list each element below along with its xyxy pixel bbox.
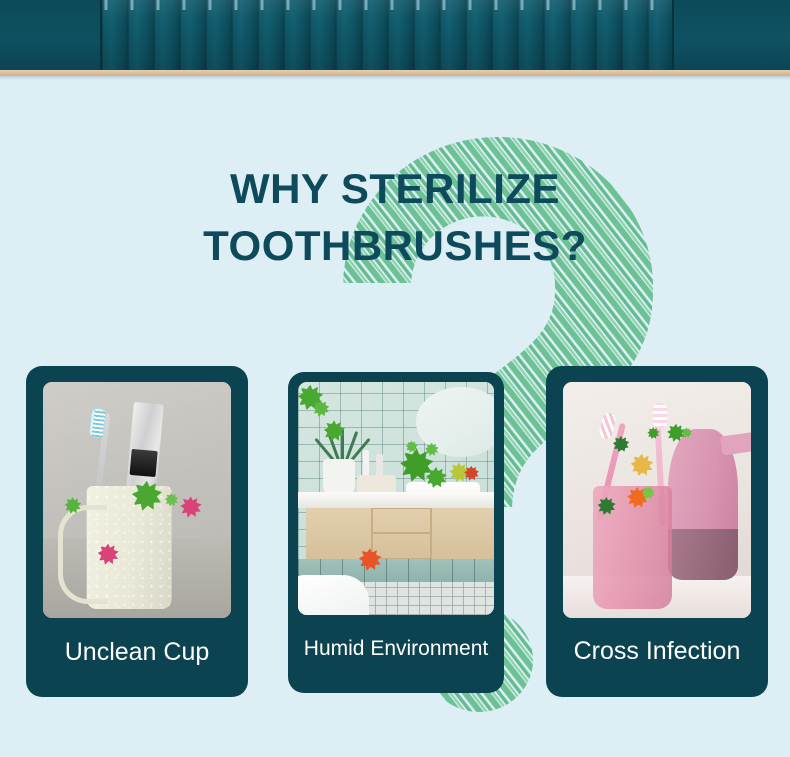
germ-icon — [429, 471, 443, 485]
germ-icon — [453, 466, 466, 479]
card-label-humid-environment: Humid Environment — [288, 637, 504, 661]
photo-unclean-cup — [43, 382, 231, 618]
germ-icon — [408, 443, 416, 451]
germ-icon — [670, 427, 682, 439]
germ-icon — [184, 500, 198, 514]
title-line-2: TOOTHBRUSHES? — [0, 217, 790, 274]
card-label-cross-infection: Cross Infection — [546, 637, 768, 666]
photo-cross-infection — [563, 382, 751, 618]
title-line-1: WHY STERILIZE — [0, 160, 790, 217]
germ-icon — [467, 468, 477, 478]
photo-humid-environment — [298, 382, 494, 615]
cabinet-header — [0, 0, 790, 70]
germ-icon — [137, 486, 157, 506]
cabinet-right-panel — [673, 0, 790, 70]
cabinet-slats — [101, 0, 673, 70]
card-label-unclean-cup: Unclean Cup — [26, 638, 248, 667]
germ-icon — [634, 458, 649, 473]
germ-icon — [601, 500, 613, 512]
cabinet-seam-right — [672, 0, 674, 70]
germ-icon — [363, 552, 378, 567]
germ-icon — [644, 488, 653, 497]
cabinet-trim-shadow — [0, 76, 790, 80]
germ-icon — [406, 454, 428, 476]
germ-icon — [316, 403, 327, 414]
germ-icon — [616, 439, 627, 450]
page-title: WHY STERILIZE TOOTHBRUSHES? — [0, 160, 790, 274]
cabinet-seam-left — [100, 0, 102, 70]
cabinet-left-panel — [0, 0, 101, 70]
